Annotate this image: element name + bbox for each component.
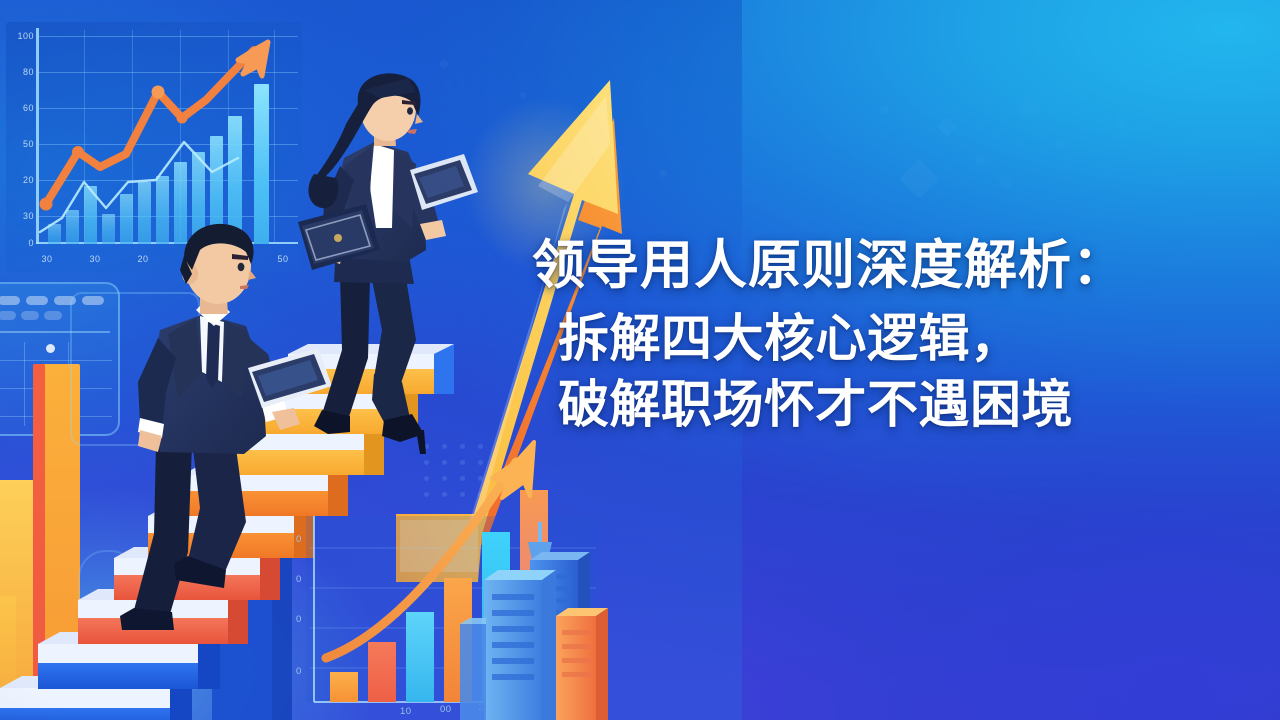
poster-canvas: 100 80 60 50 20 30 0 30 30 20 40 50 (0, 0, 1280, 720)
vignette-overlay (0, 0, 1280, 720)
